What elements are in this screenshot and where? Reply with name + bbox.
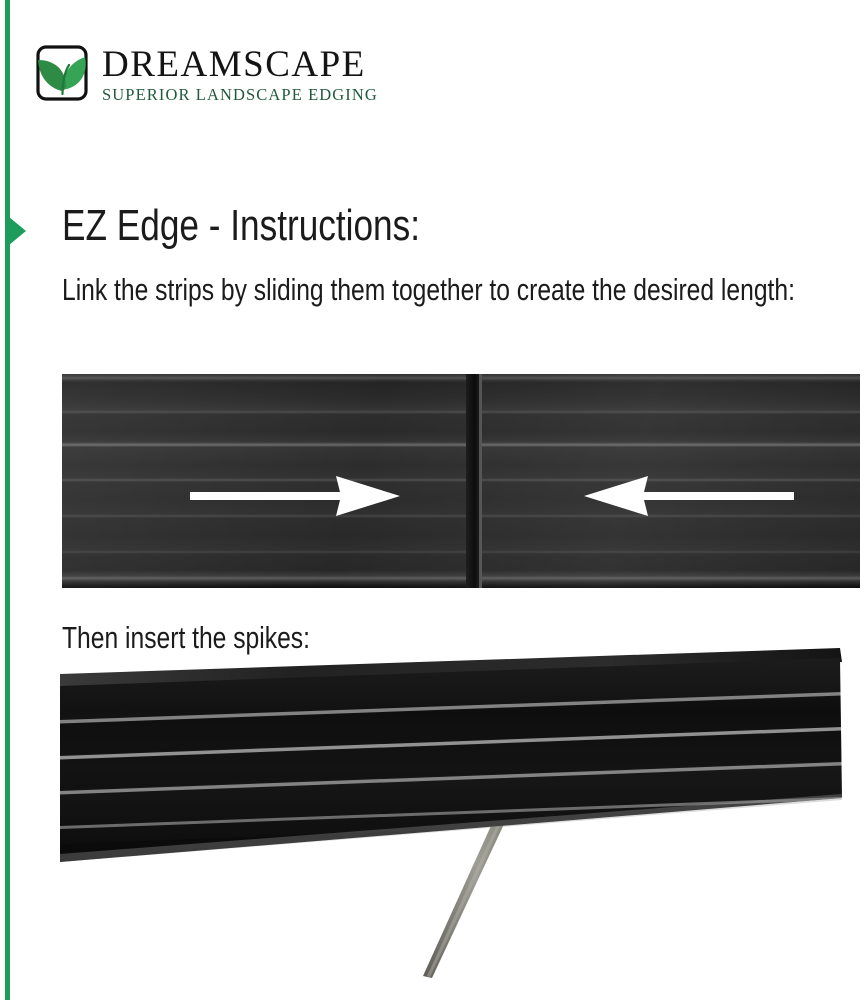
arrow-right-icon — [190, 474, 402, 523]
step-one-text: Link the strips by sliding them together… — [62, 268, 857, 312]
brand-name: DREAMSCAPE — [102, 46, 378, 84]
brand-wordmark: DREAMSCAPE SUPERIOR LANDSCAPE EDGING — [102, 44, 378, 104]
triangle-right-icon — [9, 217, 26, 245]
arrow-left-icon — [582, 474, 794, 523]
page-title: EZ Edge - Instructions: — [62, 200, 420, 252]
leaf-in-rounded-square-icon — [32, 44, 92, 106]
linking-strips-photo — [62, 374, 860, 588]
brand-logo: DREAMSCAPE SUPERIOR LANDSCAPE EDGING — [32, 44, 378, 106]
left-accent-rail — [5, 0, 10, 1000]
brand-tagline: SUPERIOR LANDSCAPE EDGING — [102, 85, 378, 104]
spike-insertion-photo — [60, 648, 860, 1000]
